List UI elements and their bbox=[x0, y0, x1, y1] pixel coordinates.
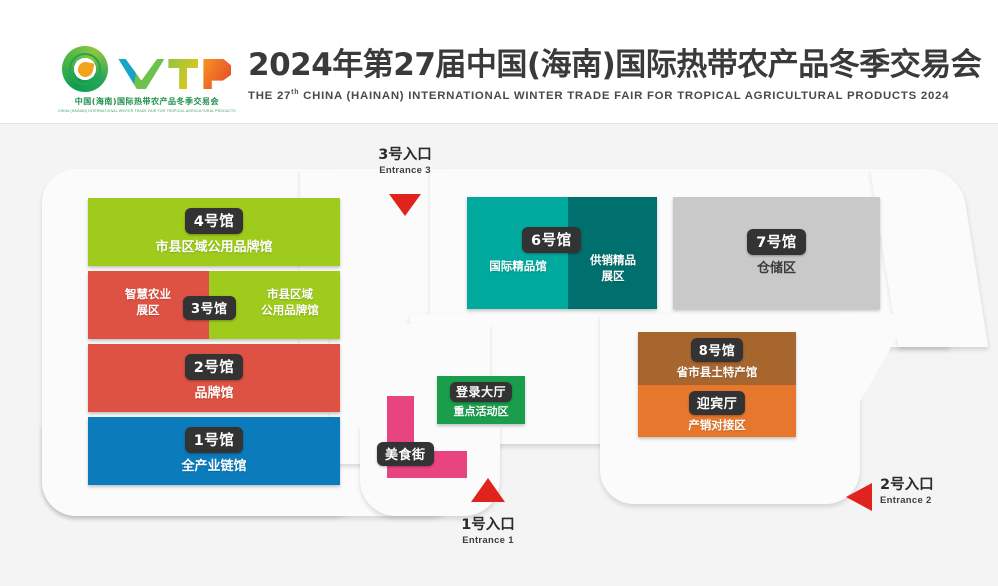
event-title-cn: 2024年第27届中国(海南)国际热带农产品冬季交易会 bbox=[248, 46, 968, 84]
letter-w-icon bbox=[118, 59, 164, 89]
entrance-2-arrow-icon bbox=[846, 483, 872, 511]
entrance-2-label: 2号入口 Entrance 2 bbox=[880, 476, 980, 506]
entrance-3-label-en: Entrance 3 bbox=[350, 165, 460, 176]
hall-3-left-line1: 智慧农业 bbox=[125, 287, 171, 301]
entrance-2-label-en: Entrance 2 bbox=[880, 495, 980, 506]
logo-cn-subtitle: 中国(海南)国际热带农产品冬季交易会 bbox=[75, 96, 219, 107]
hall-3-right-line2: 公用品牌馆 bbox=[261, 303, 319, 317]
hall-6-right-line1: 供销精品 bbox=[590, 253, 636, 267]
hall-4[interactable]: 4号馆 市县区域公用品牌馆 bbox=[88, 198, 340, 266]
entrance-3-label: 3号入口 Entrance 3 bbox=[350, 146, 460, 176]
hall-3-badge: 3号馆 bbox=[183, 296, 236, 320]
hall-6-badge: 6号馆 bbox=[522, 227, 581, 253]
hall-6[interactable]: 6号馆 国际精品馆 供销精品 展区 bbox=[467, 197, 657, 309]
hall-7-badge: 7号馆 bbox=[747, 229, 806, 255]
logo-row bbox=[62, 46, 231, 92]
hall-1-subtitle: 全产业链馆 bbox=[181, 459, 246, 475]
hall-4-content: 4号馆 市县区域公用品牌馆 bbox=[88, 198, 340, 266]
page-header: 中国(海南)国际热带农产品冬季交易会 CHINA (HAINAN) INTERN… bbox=[0, 0, 998, 124]
reception-hall-subtitle: 产销对接区 bbox=[688, 418, 746, 432]
hall-3-content: 智慧农业 展区 3号馆 市县区域 公用品牌馆 bbox=[88, 271, 340, 339]
hall-7-content: 7号馆 仓储区 bbox=[673, 197, 880, 309]
title-block: 2024年第27届中国(海南)国际热带农产品冬季交易会 THE 27th CHI… bbox=[248, 46, 968, 102]
reception-hall[interactable]: 迎宾厅 产销对接区 bbox=[638, 385, 796, 437]
letter-t-icon bbox=[168, 59, 198, 89]
entrance-2-label-cn: 2号入口 bbox=[880, 476, 980, 494]
hall-1-labels: 1号馆 全产业链馆 bbox=[181, 427, 246, 475]
hall-2-badge: 2号馆 bbox=[185, 354, 244, 380]
hall-6-left-subtitle: 国际精品馆 bbox=[472, 259, 564, 273]
registration-lobby-labels: 登录大厅 重点活动区 bbox=[450, 382, 512, 419]
hall-4-subtitle: 市县区域公用品牌馆 bbox=[155, 240, 272, 256]
hall-4-labels: 4号馆 市县区域公用品牌馆 bbox=[155, 208, 272, 256]
entrance-1-label-en: Entrance 1 bbox=[433, 535, 543, 546]
hall-7-labels: 7号馆 仓储区 bbox=[747, 229, 806, 277]
seed-shape-icon bbox=[76, 60, 94, 78]
event-logo: 中国(海南)国际热带农产品冬季交易会 CHINA (HAINAN) INTERN… bbox=[58, 46, 236, 113]
wtp-emblem-icon bbox=[62, 46, 108, 92]
logo-en-subtitle: CHINA (HAINAN) INTERNATIONAL WINTER TRAD… bbox=[58, 109, 236, 113]
hall-6-right-labels: 供销精品 展区 bbox=[571, 253, 655, 283]
hall-8-subtitle: 省市县土特产馆 bbox=[677, 365, 758, 379]
title-en-rest: CHINA (HAINAN) INTERNATIONAL WINTER TRAD… bbox=[299, 90, 949, 102]
reception-hall-badge: 迎宾厅 bbox=[689, 391, 746, 415]
hall-1-badge: 1号馆 bbox=[185, 427, 244, 453]
hall-2-labels: 2号馆 品牌馆 bbox=[185, 354, 244, 402]
entrance-1-label: 1号入口 Entrance 1 bbox=[433, 516, 543, 546]
hall-2[interactable]: 2号馆 品牌馆 bbox=[88, 344, 340, 412]
hall-1[interactable]: 1号馆 全产业链馆 bbox=[88, 417, 340, 485]
entrance-3-label-cn: 3号入口 bbox=[350, 146, 460, 164]
hall-6-content: 6号馆 国际精品馆 供销精品 展区 bbox=[467, 197, 657, 309]
hall-8-labels: 8号馆 省市县土特产馆 bbox=[677, 338, 758, 379]
hall-3-right-labels: 市县区域 公用品牌馆 bbox=[246, 287, 334, 317]
hall-8[interactable]: 8号馆 省市县土特产馆 bbox=[638, 332, 796, 385]
registration-lobby[interactable]: 登录大厅 重点活动区 bbox=[437, 376, 525, 424]
venue-map: 4号馆 市县区域公用品牌馆 智慧农业 展区 3号馆 市县区域 公用品牌馆 2号馆… bbox=[0, 124, 998, 586]
hall-2-subtitle: 品牌馆 bbox=[194, 386, 233, 402]
hall-3-left-line2: 展区 bbox=[137, 303, 160, 317]
event-title-en: THE 27th CHINA (HAINAN) INTERNATIONAL WI… bbox=[248, 89, 968, 102]
food-street-badge: 美食街 bbox=[377, 442, 434, 466]
hall-4-badge: 4号馆 bbox=[185, 208, 244, 234]
entrance-1-label-cn: 1号入口 bbox=[433, 516, 543, 534]
letter-p-icon bbox=[203, 59, 231, 89]
hall-3-right-line1: 市县区域 bbox=[267, 287, 313, 301]
reception-hall-labels: 迎宾厅 产销对接区 bbox=[688, 391, 746, 432]
hall-3[interactable]: 智慧农业 展区 3号馆 市县区域 公用品牌馆 bbox=[88, 271, 340, 339]
hall-8-content: 8号馆 省市县土特产馆 bbox=[638, 332, 796, 385]
hall-2-content: 2号馆 品牌馆 bbox=[88, 344, 340, 412]
registration-lobby-badge: 登录大厅 bbox=[450, 382, 512, 402]
hall-1-content: 1号馆 全产业链馆 bbox=[88, 417, 340, 485]
title-en-prefix: THE 27 bbox=[248, 90, 291, 102]
entrance-1-arrow-icon bbox=[471, 478, 505, 502]
wtp-wordmark-icon bbox=[118, 49, 231, 89]
registration-lobby-content: 登录大厅 重点活动区 bbox=[437, 376, 525, 424]
entrance-3-arrow-icon bbox=[389, 194, 421, 216]
hall-8-badge: 8号馆 bbox=[691, 338, 744, 362]
hall-7-subtitle: 仓储区 bbox=[757, 261, 796, 277]
hall-6-right-line2: 展区 bbox=[602, 269, 625, 283]
registration-lobby-subtitle: 重点活动区 bbox=[453, 405, 508, 419]
reception-hall-content: 迎宾厅 产销对接区 bbox=[638, 385, 796, 437]
hall-3-left-labels: 智慧农业 展区 bbox=[102, 287, 194, 317]
hall-7[interactable]: 7号馆 仓储区 bbox=[673, 197, 880, 309]
